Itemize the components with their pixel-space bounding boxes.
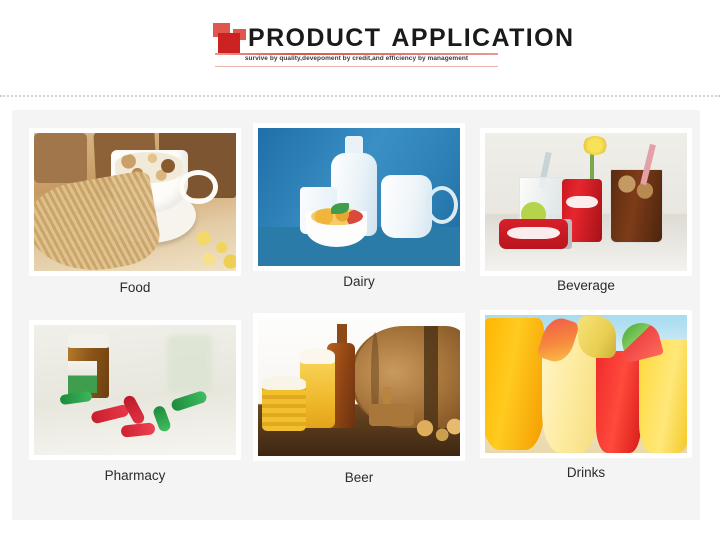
drinks-orange-juice-glass: [485, 318, 544, 450]
product-card-drinks[interactable]: [480, 310, 692, 458]
beer-glasses-barrel-photo: [258, 318, 460, 456]
pharmacy-capsule-green-3: [170, 390, 208, 412]
product-label-drinks: Drinks: [480, 465, 692, 480]
beer-mug-foam: [262, 376, 306, 390]
food-cereal-wheat-photo: [34, 133, 236, 271]
pharmacy-capsule-green-1: [60, 390, 93, 405]
beer-mug: [262, 384, 306, 431]
subtitle-underline-rule: [215, 66, 498, 67]
food-wheat-stalks: [34, 169, 164, 271]
page-title-word-application: APPLICATION: [391, 24, 574, 52]
pharmacy-background-blur: [167, 335, 211, 392]
product-label-beer: Beer: [253, 470, 465, 485]
pharmacy-capsule-red-3: [120, 422, 155, 437]
beverage-can-swirl-1: [566, 196, 598, 207]
page-title-word-product: PRODUCT: [248, 24, 381, 52]
page-header: PRODUCTAPPLICATION survive by quality,de…: [0, 0, 720, 92]
product-card-dairy[interactable]: [253, 123, 465, 271]
product-grid-panel: Food Dairy: [12, 110, 700, 520]
pharmacy-bottle-label: [68, 361, 96, 392]
pharmacy-capsule-red-1: [90, 404, 130, 425]
beverage-can-swirl-2: [507, 227, 560, 239]
product-card-beer[interactable]: [253, 313, 465, 461]
product-card-pharmacy[interactable]: [29, 320, 241, 460]
logo-square-dark: [218, 33, 240, 55]
beer-glass-foam: [300, 348, 334, 363]
page-subtitle: survive by quality,devepoment by credit,…: [215, 55, 498, 62]
dairy-milk-jug: [381, 175, 432, 238]
pharmacy-capsule-green-2: [152, 405, 172, 434]
beverage-ice-cubes: [614, 172, 656, 202]
food-sack-left: [34, 133, 87, 183]
dairy-milk-bottles-photo: [258, 128, 460, 266]
beverage-cola-cans-photo: [485, 133, 687, 271]
pharmacy-bottle-cap: [68, 334, 108, 348]
header-divider: [0, 95, 720, 97]
beer-barley-grain: [412, 415, 460, 448]
pharmacy-pill-bottle-capsules-photo: [34, 325, 236, 455]
drinks-fruit-juices-photo: [485, 315, 687, 453]
product-label-dairy: Dairy: [253, 274, 465, 289]
beer-barrel-hoop-outer: [424, 326, 438, 428]
food-pasta-grains: [188, 224, 236, 271]
product-card-beverage[interactable]: [480, 128, 692, 276]
red-squares-logo-icon: [213, 23, 247, 53]
product-label-beverage: Beverage: [480, 278, 692, 293]
beer-tap: [369, 404, 413, 426]
food-cup-handle: [179, 170, 217, 203]
product-label-pharmacy: Pharmacy: [29, 468, 241, 483]
beverage-flower: [582, 136, 608, 155]
drinks-red-juice-glass: [596, 351, 640, 453]
dairy-jug-handle: [426, 186, 458, 224]
product-label-food: Food: [29, 280, 241, 295]
page-title: PRODUCTAPPLICATION: [248, 24, 574, 53]
product-card-food[interactable]: [29, 128, 241, 276]
drinks-pineapple-slice: [578, 316, 616, 357]
